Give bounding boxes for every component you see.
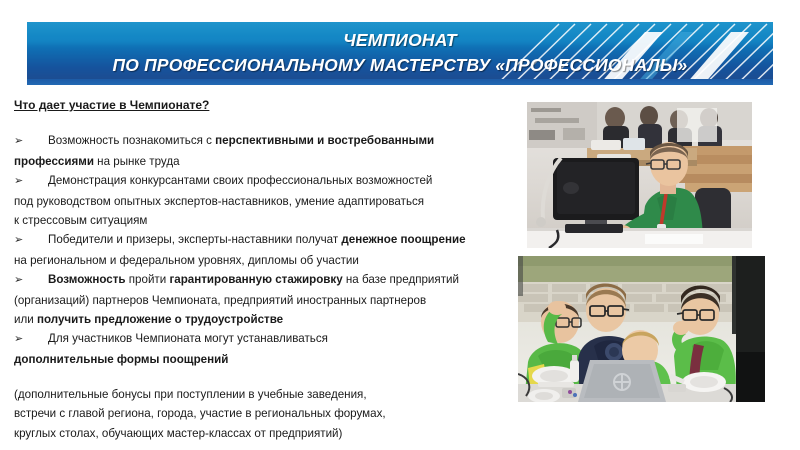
arrow-bullet-icon: ➢ bbox=[14, 231, 48, 250]
emphasis-text: получить предложение о трудоустройстве bbox=[37, 313, 283, 326]
banner-title-line1: ЧЕМПИОНАТ bbox=[27, 28, 773, 53]
benefit-item-continuation: к стрессовым ситуациям bbox=[14, 211, 554, 230]
benefit-item-continuation: профессиями на рынке труда bbox=[14, 152, 554, 171]
closing-line: круглых столах, обучающих мастер-классах… bbox=[14, 424, 554, 443]
competitor-at-computer-photo bbox=[527, 102, 752, 248]
benefit-item-continuation: под руководством опытных экспертов-наста… bbox=[14, 192, 554, 211]
body-text: или bbox=[14, 313, 37, 326]
benefit-item: ➢Демонстрация конкурсантами своих профес… bbox=[14, 171, 554, 191]
closing-line: встречи с главой региона, города, участи… bbox=[14, 404, 554, 423]
body-text: Для участников Чемпионата могут устанавл… bbox=[48, 332, 328, 345]
body-text: Победители и призеры, эксперты-наставник… bbox=[48, 233, 341, 246]
benefit-item: ➢Возможность пройти гарантированную стаж… bbox=[14, 270, 554, 290]
body-text: (организаций) партнеров Чемпионата, пред… bbox=[14, 294, 426, 307]
banner-title: ЧЕМПИОНАТ ПО ПРОФЕССИОНАЛЬНОМУ МАСТЕРСТВ… bbox=[27, 28, 773, 78]
body-text: на региональном и федеральном уровнях, д… bbox=[14, 254, 359, 267]
body-text: на базе предприятий bbox=[343, 273, 459, 286]
body-text: Демонстрация конкурсантами своих професс… bbox=[48, 174, 432, 187]
emphasis-text: профессиями bbox=[14, 155, 94, 168]
body-text: под руководством опытных экспертов-наста… bbox=[14, 195, 424, 208]
slide-canvas: ЧЕМПИОНАТ ПО ПРОФЕССИОНАЛЬНОМУ МАСТЕРСТВ… bbox=[0, 0, 800, 450]
emphasis-text: перспективными и востребованными bbox=[215, 134, 434, 147]
closing-note: (дополнительные бонусы при поступлении в… bbox=[14, 385, 554, 443]
benefit-item: ➢Возможность познакомиться с перспективн… bbox=[14, 131, 554, 151]
team-around-laptop-photo bbox=[518, 256, 765, 402]
emphasis-text: Возможность bbox=[48, 273, 126, 286]
arrow-bullet-icon: ➢ bbox=[14, 330, 48, 349]
benefit-item-continuation: дополнительные формы поощрений bbox=[14, 350, 554, 369]
header-banner: ЧЕМПИОНАТ ПО ПРОФЕССИОНАЛЬНОМУ МАСТЕРСТВ… bbox=[27, 22, 773, 85]
benefit-item: ➢Для участников Чемпионата могут устанав… bbox=[14, 329, 554, 349]
body-text: на рынке труда bbox=[94, 155, 180, 168]
closing-line: (дополнительные бонусы при поступлении в… bbox=[14, 385, 554, 404]
arrow-bullet-icon: ➢ bbox=[14, 132, 48, 151]
benefit-item: ➢Победители и призеры, эксперты-наставни… bbox=[14, 230, 554, 250]
slide-body: Что дает участие в Чемпионате? ➢Возможно… bbox=[14, 96, 554, 443]
emphasis-text: дополнительные формы поощрений bbox=[14, 353, 228, 366]
banner-bottom-edge bbox=[27, 79, 773, 85]
body-text: пройти bbox=[126, 273, 170, 286]
benefit-item-continuation: (организаций) партнеров Чемпионата, пред… bbox=[14, 291, 554, 310]
benefit-item-continuation: на региональном и федеральном уровнях, д… bbox=[14, 251, 554, 270]
body-text: к стрессовым ситуациям bbox=[14, 214, 147, 227]
arrow-bullet-icon: ➢ bbox=[14, 172, 48, 191]
emphasis-text: денежное поощрение bbox=[341, 233, 465, 246]
emphasis-text: гарантированную стажировку bbox=[169, 273, 342, 286]
body-text: Возможность познакомиться с bbox=[48, 134, 215, 147]
benefits-list: ➢Возможность познакомиться с перспективн… bbox=[14, 131, 554, 369]
arrow-bullet-icon: ➢ bbox=[14, 271, 48, 290]
page-title: Что дает участие в Чемпионате? bbox=[14, 96, 554, 115]
benefit-item-continuation: или получить предложение о трудоустройст… bbox=[14, 310, 554, 329]
banner-title-line2: ПО ПРОФЕССИОНАЛЬНОМУ МАСТЕРСТВУ «ПРОФЕСС… bbox=[27, 53, 773, 78]
